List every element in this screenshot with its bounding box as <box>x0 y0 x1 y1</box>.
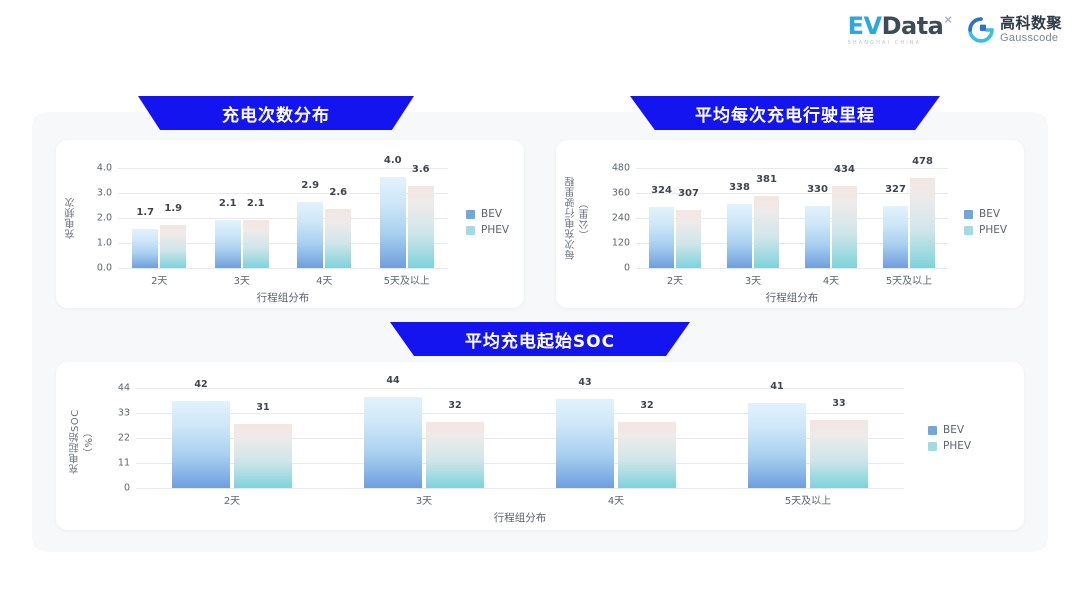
x-axis-labels-avg-range: 2天 3天 4天 5天及以上 <box>636 272 948 287</box>
bar-bev[interactable]: 324 <box>649 168 674 268</box>
legend-label-bev: BEV <box>979 208 1000 220</box>
legend-item-phev[interactable]: PHEV <box>928 440 971 452</box>
bar-phev[interactable]: 33 <box>810 388 868 488</box>
x-tick-label: 3天 <box>328 492 520 507</box>
x-tick-label: 4天 <box>792 272 870 287</box>
legend-item-bev[interactable]: BEV <box>928 424 971 436</box>
bar-value: 2.1 <box>219 198 237 209</box>
chart-card-start-soc: 充电起始SOC （%） 44 33 22 11 0 42 31 44 32 <box>56 362 1024 530</box>
bar-value: 32 <box>640 400 653 411</box>
bar-value: 478 <box>912 156 933 167</box>
bar-value: 381 <box>756 174 777 185</box>
y-axis-title-line2-start-soc: （%） <box>84 416 98 468</box>
legend-start-soc: BEV PHEV <box>928 424 971 452</box>
bar-phev[interactable]: 1.9 <box>160 168 186 268</box>
bar-phev[interactable]: 434 <box>832 168 857 268</box>
y-tick: 44 <box>118 383 130 394</box>
grid-line <box>636 268 948 269</box>
y-tick: 240 <box>612 213 630 224</box>
brand-bar: EV Data × SHANGHAI CHINA 高科数聚 Gausscode <box>848 14 1062 46</box>
bar-value: 324 <box>651 185 672 196</box>
x-tick-label: 2天 <box>136 492 328 507</box>
bar-bev[interactable]: 41 <box>748 388 806 488</box>
bar-group: 4.0 3.6 <box>366 168 449 268</box>
y-tick: 4.0 <box>97 163 112 174</box>
bar-group: 338 381 <box>714 168 792 268</box>
bar-value: 330 <box>807 184 828 195</box>
bar-group: 1.7 1.9 <box>118 168 201 268</box>
bar-bev[interactable]: 4.0 <box>380 168 406 268</box>
bar-value: 327 <box>885 184 906 195</box>
bar-group: 44 32 <box>328 388 520 488</box>
y-tick: 360 <box>612 188 630 199</box>
bar-group: 327 478 <box>870 168 948 268</box>
chart-title-avg-range: 平均每次充电行驶里程 <box>695 101 875 126</box>
bar-group: 2.1 2.1 <box>201 168 284 268</box>
bar-bev[interactable]: 2.1 <box>215 168 241 268</box>
legend-label-phev: PHEV <box>481 224 509 236</box>
bar-value: 1.9 <box>164 203 182 214</box>
y-tick: 0 <box>124 483 130 494</box>
legend-item-phev[interactable]: PHEV <box>964 224 1007 236</box>
bar-value: 2.1 <box>247 198 265 209</box>
y-axis-title-line1-start-soc: 充电起始SOC <box>70 390 84 494</box>
x-tick-label: 4天 <box>520 492 712 507</box>
legend-label-bev: BEV <box>481 208 502 220</box>
bar-value: 2.6 <box>329 187 347 198</box>
grid-line <box>136 488 904 489</box>
legend-swatch-phev-icon <box>928 442 937 451</box>
bar-value: 2.9 <box>301 180 319 191</box>
y-tick: 120 <box>612 238 630 249</box>
bar-phev[interactable]: 32 <box>618 388 676 488</box>
x-tick-label: 3天 <box>201 272 284 287</box>
y-tick: 11 <box>118 458 130 469</box>
bar-phev[interactable]: 307 <box>676 168 701 268</box>
y-tick: 480 <box>612 163 630 174</box>
bar-phev[interactable]: 381 <box>754 168 779 268</box>
legend-avg-range: BEV PHEV <box>964 208 1007 236</box>
bar-bev[interactable]: 327 <box>883 168 908 268</box>
evdata-logo-data: Data <box>882 14 944 38</box>
chart-title-charging-frequency: 充电次数分布 <box>222 101 330 126</box>
chart-card-charging-frequency: 充电频次 4.0 3.0 2.0 1.0 0.0 1.7 1.9 2.1 2.1 <box>56 140 524 308</box>
bar-value: 42 <box>194 379 207 390</box>
evdata-wordmark: EV Data × <box>848 14 952 38</box>
legend-label-bev: BEV <box>943 424 964 436</box>
chart-title-ribbon-avg-range: 平均每次充电行驶里程 <box>630 96 940 130</box>
bar-phev[interactable]: 2.6 <box>325 168 351 268</box>
y-tick: 0.0 <box>97 263 112 274</box>
bar-group: 2.9 2.6 <box>283 168 366 268</box>
bars-start-soc: 42 31 44 32 43 32 41 33 <box>136 388 904 488</box>
x-axis-title-charging-frequency: 行程组分布 <box>118 290 448 305</box>
x-tick-label: 5天及以上 <box>366 272 449 287</box>
legend-swatch-bev-icon <box>964 210 973 219</box>
bar-value: 43 <box>578 377 591 388</box>
x-tick-label: 4天 <box>283 272 366 287</box>
x-tick-label: 2天 <box>636 272 714 287</box>
bar-bev[interactable]: 338 <box>727 168 752 268</box>
chart-title-ribbon-charging-frequency: 充电次数分布 <box>138 96 414 130</box>
chart-card-avg-range: 每次充电行驶里程 （公里） 480 360 240 120 0 324 307 … <box>556 140 1024 308</box>
bar-value: 31 <box>256 402 269 413</box>
bars-avg-range: 324 307 338 381 330 434 327 478 <box>636 168 948 268</box>
x-tick-label: 5天及以上 <box>870 272 948 287</box>
evdata-x-icon: × <box>944 12 952 27</box>
bar-value: 32 <box>448 400 461 411</box>
grid-line <box>118 268 448 269</box>
bar-bev[interactable]: 1.7 <box>132 168 158 268</box>
bar-value: 4.0 <box>384 155 402 166</box>
legend-item-phev[interactable]: PHEV <box>466 224 509 236</box>
bar-bev[interactable]: 2.9 <box>297 168 323 268</box>
y-tick: 1.0 <box>97 238 112 249</box>
x-tick-label: 2天 <box>118 272 201 287</box>
evdata-logo: EV Data × SHANGHAI CHINA <box>848 14 952 46</box>
bar-value: 3.6 <box>412 164 430 175</box>
legend-charging-frequency: BEV PHEV <box>466 208 509 236</box>
bar-value: 44 <box>386 375 399 386</box>
y-axis-ticks-charging-frequency: 4.0 3.0 2.0 1.0 0.0 <box>78 168 112 268</box>
chart-title-start-soc: 平均充电起始SOC <box>465 327 615 352</box>
y-tick: 2.0 <box>97 213 112 224</box>
bar-value: 1.7 <box>136 207 154 218</box>
bar-group: 324 307 <box>636 168 714 268</box>
evdata-tagline: SHANGHAI CHINA <box>848 40 922 46</box>
y-tick: 3.0 <box>97 188 112 199</box>
bar-value: 41 <box>770 381 783 392</box>
bar-group: 42 31 <box>136 388 328 488</box>
y-axis-title-line1-avg-range: 每次充电行驶里程 <box>566 164 580 272</box>
x-axis-labels-charging-frequency: 2天 3天 4天 5天及以上 <box>118 272 448 287</box>
legend-swatch-phev-icon <box>466 226 475 235</box>
x-axis-labels-start-soc: 2天 3天 4天 5天及以上 <box>136 492 904 507</box>
y-tick: 0 <box>624 263 630 274</box>
bar-group: 330 434 <box>792 168 870 268</box>
evdata-logo-ev: EV <box>848 14 882 38</box>
gausscode-logo: 高科数聚 Gausscode <box>968 16 1062 44</box>
legend-swatch-bev-icon <box>928 426 937 435</box>
bar-bev[interactable]: 44 <box>364 388 422 488</box>
legend-label-phev: PHEV <box>943 440 971 452</box>
gausscode-name-en: Gausscode <box>1000 33 1062 44</box>
chart-title-ribbon-start-soc: 平均充电起始SOC <box>390 322 690 356</box>
legend-swatch-bev-icon <box>466 210 475 219</box>
x-axis-title-start-soc: 行程组分布 <box>136 510 904 525</box>
y-tick: 33 <box>118 408 130 419</box>
gausscode-text: 高科数聚 Gausscode <box>1000 16 1062 44</box>
bar-value: 307 <box>678 188 699 199</box>
bar-bev[interactable]: 42 <box>172 388 230 488</box>
legend-label-phev: PHEV <box>979 224 1007 236</box>
bars-charging-frequency: 1.7 1.9 2.1 2.1 2.9 2.6 4.0 3.6 <box>118 168 448 268</box>
bar-phev[interactable]: 32 <box>426 388 484 488</box>
bar-phev[interactable]: 31 <box>234 388 292 488</box>
y-axis-ticks-avg-range: 480 360 240 120 0 <box>592 168 630 268</box>
legend-item-bev[interactable]: BEV <box>964 208 1007 220</box>
y-tick: 22 <box>118 433 130 444</box>
bar-value: 434 <box>834 164 855 175</box>
y-axis-ticks-start-soc: 44 33 22 11 0 <box>98 388 130 488</box>
bar-group: 41 33 <box>712 388 904 488</box>
gausscode-name-cn: 高科数聚 <box>1000 16 1062 31</box>
bar-value: 33 <box>832 398 845 409</box>
legend-item-bev[interactable]: BEV <box>466 208 509 220</box>
bar-value: 338 <box>729 182 750 193</box>
bar-phev[interactable]: 478 <box>910 168 935 268</box>
bar-bev[interactable]: 330 <box>805 168 830 268</box>
bar-phev[interactable]: 3.6 <box>408 168 434 268</box>
bar-bev[interactable]: 43 <box>556 388 614 488</box>
x-tick-label: 3天 <box>714 272 792 287</box>
slide-root: EV Data × SHANGHAI CHINA 高科数聚 Gausscode <box>0 0 1080 608</box>
gausscode-g-mark-icon <box>968 17 994 43</box>
x-tick-label: 5天及以上 <box>712 492 904 507</box>
legend-swatch-phev-icon <box>964 226 973 235</box>
x-axis-title-avg-range: 行程组分布 <box>636 290 948 305</box>
bar-group: 43 32 <box>520 388 712 488</box>
bar-phev[interactable]: 2.1 <box>243 168 269 268</box>
